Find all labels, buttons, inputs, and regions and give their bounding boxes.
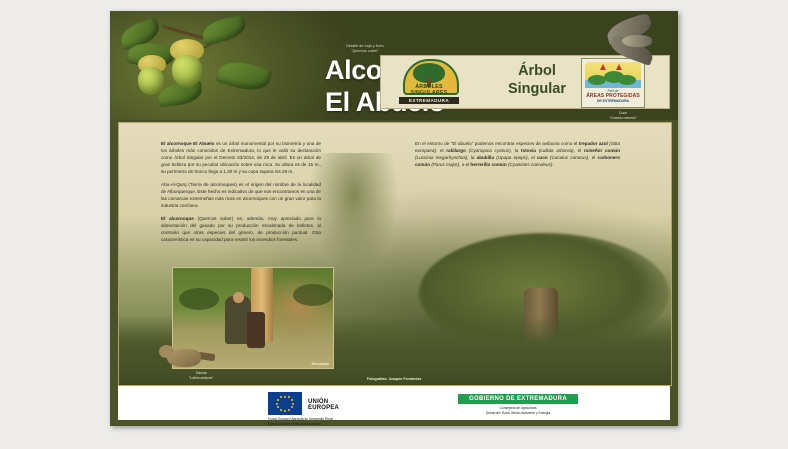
eu-subtitle: Fondo Europeo Agrícola de Desarrollo Rur… xyxy=(268,417,468,426)
gobex-logo-block: GOBIERNO DE EXTREMADURA Consejería de Ag… xyxy=(448,394,588,416)
cuckoo-body xyxy=(622,35,652,47)
paragraph-1: El alcornoque El Abuelo es un árbol monu… xyxy=(161,141,321,176)
text-column-left: El alcornoque El Abuelo es un árbol monu… xyxy=(161,141,321,250)
logo-arboles-name: ÁRBOLES SINGULARES xyxy=(391,85,467,96)
eu-star-icon xyxy=(291,399,293,401)
caption-descorche: Descorche xyxy=(312,362,329,366)
species-common-name: cuco xyxy=(537,155,548,160)
paragraph-2: Abu-Al-Qurq (Tierra de alcornoques) es e… xyxy=(161,182,321,210)
text-column-right: En el entorno de "El abuelo" podemos enc… xyxy=(415,141,620,175)
eu-star-icon xyxy=(284,396,286,398)
species-scientific-name: (Cyanistes caeruleus) xyxy=(507,162,553,167)
caption-acorn-scientific: "Quercus suber" xyxy=(315,49,415,54)
species-separator: . xyxy=(552,162,553,167)
species-scientific-name: (Lullula arborea) xyxy=(536,148,574,153)
inset-bg-tree-1 xyxy=(179,288,219,310)
avifauna-paragraph: En el entorno de "El abuelo" podemos enc… xyxy=(415,141,620,169)
panel-header: Detalle de hoja y fruto "Quercus suber" … xyxy=(110,11,678,120)
species-separator: , el xyxy=(436,148,446,153)
photo-credit: Fotografías: Joaquín Fernández xyxy=(118,377,670,381)
species-common-name: totovía xyxy=(521,148,536,153)
eu-star-icon xyxy=(276,403,278,405)
panel-footer: UNIÓN EUROPEA Fondo Europeo Agrícola de … xyxy=(118,386,670,420)
totovia-head xyxy=(159,345,174,358)
eu-star-icon xyxy=(291,406,293,408)
band-title-line-1: Árbol xyxy=(477,63,597,81)
gobex-subtitle-line-2: Desarrollo Rural, Medio Ambiente y Energ… xyxy=(448,411,588,416)
paragraph-3-lead: El alcornoque xyxy=(161,216,194,221)
arboles-singulares-logo: ÁRBOLES SINGULARES EXTREMADURA xyxy=(389,59,469,105)
gobex-subtitle: Consejería de Agricultura Desarrollo Rur… xyxy=(448,406,588,416)
species-separator: , el xyxy=(588,155,597,160)
species-scientific-name: (Parus major) xyxy=(430,162,459,167)
logo-areas-region: DE EXTREMADURA xyxy=(582,99,644,103)
species-separator: , el xyxy=(528,155,537,160)
gobex-name: GOBIERNO DE EXTREMADURA xyxy=(458,394,578,404)
eu-star-icon xyxy=(280,396,282,398)
species-separator: , o el xyxy=(459,162,470,167)
species-scientific-name: (Upupa epops) xyxy=(494,155,528,160)
species-common-name: trepador azul xyxy=(579,141,608,146)
caption-cuco-scientific: "Cuculus canorus" xyxy=(588,116,658,121)
caption-cuco: Cuco "Cuculus canorus" xyxy=(588,111,658,121)
band-title: Árbol Singular xyxy=(477,63,597,98)
eu-star-icon xyxy=(280,409,282,411)
panel-content: El alcornoque El Abuelo es un árbol monu… xyxy=(118,122,672,386)
species-scientific-name: (Cuculus canorus) xyxy=(548,155,589,160)
eu-star-icon xyxy=(288,409,290,411)
eu-star-icon xyxy=(277,406,279,408)
interpretive-sign-panel: Detalle de hoja y fruto "Quercus suber" … xyxy=(110,11,678,426)
inset-worker-head xyxy=(233,292,244,303)
species-common-name: herrerillo común xyxy=(470,162,506,167)
logo-arboles-line2: SINGULARES xyxy=(391,91,467,97)
eu-star-icon xyxy=(292,403,294,405)
paragraph-1-lead: El alcornoque El Abuelo xyxy=(161,141,214,146)
band-title-line-2: Singular xyxy=(477,81,597,99)
eu-flag-icon xyxy=(268,392,302,415)
background-shrub xyxy=(309,153,399,273)
inset-bg-tree-2 xyxy=(293,284,333,306)
species-common-name: rabilargo xyxy=(446,148,466,153)
eu-star-icon xyxy=(288,396,290,398)
species-scientific-name: (Luscinia megarhynchos) xyxy=(415,155,467,160)
eu-name: UNIÓN EUROPEA xyxy=(308,399,339,411)
species-separator: , la xyxy=(511,148,521,153)
eu-subtitle-line-2: Europa invierte en las zonas rurales xyxy=(268,422,468,426)
species-separator: , el xyxy=(574,148,584,153)
species-common-name: abubilla xyxy=(477,155,494,160)
species-separator: , la xyxy=(467,155,476,160)
inset-cork-slab xyxy=(247,312,265,348)
species-scientific-name: (Cyanopica cyanus) xyxy=(466,148,511,153)
eu-star-icon xyxy=(284,410,286,412)
eu-star-icon xyxy=(277,399,279,401)
paragraph-3: El alcornoque (Quercus suber) es, además… xyxy=(161,216,321,244)
cuckoo-bird-illustration xyxy=(600,19,670,75)
screenshot-canvas: Detalle de hoja y fruto "Quercus suber" … xyxy=(0,0,788,449)
caption-acorn-detail: Detalle de hoja y fruto "Quercus suber" xyxy=(315,44,415,54)
avifauna-intro: En el entorno de "El abuelo" podemos enc… xyxy=(415,141,579,146)
logo-arboles-region: EXTREMADURA xyxy=(399,97,459,104)
species-common-name: ruiseñor común xyxy=(584,148,620,153)
